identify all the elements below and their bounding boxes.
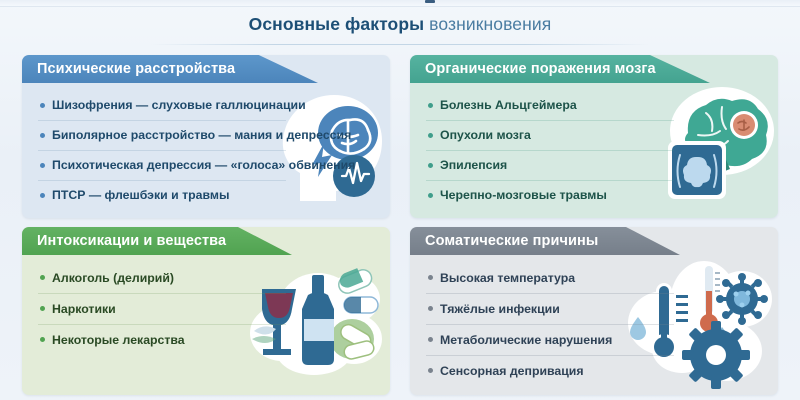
list-item-label: Некоторые лекарства	[52, 333, 185, 347]
list-item-label: Сенсорная депривация	[440, 364, 584, 378]
list-item-label: Черепно-мозговые травмы	[440, 188, 607, 202]
bullet-dot-icon	[428, 306, 433, 311]
bullet-dot-icon	[428, 275, 433, 280]
bullet-dot-icon	[40, 103, 45, 108]
list-item[interactable]: Сенсорная депривация	[410, 355, 778, 386]
list-item[interactable]: Шизофрения — слуховые галлюцинации	[22, 90, 390, 120]
card-header-label: Соматические причины	[425, 233, 598, 249]
list-item-label: Психотическая депрессия — «голоса» обвин…	[52, 158, 355, 172]
page-title-light: возникновения	[429, 14, 551, 34]
bullet-dot-icon	[40, 133, 45, 138]
card-organic-brain-lesions[interactable]: Органические поражения мозга	[410, 55, 778, 218]
card-somatic-causes[interactable]: Соматические причины	[410, 227, 778, 395]
card-mental-disorders[interactable]: Психические расстройства	[22, 55, 390, 218]
title-divider	[150, 44, 650, 45]
list-item-label: Тяжёлые инфекции	[440, 302, 560, 316]
bullet-dot-icon	[40, 275, 45, 280]
clipped-element-nub	[425, 0, 435, 3]
card-item-list-mental-disorders: Шизофрения — слуховые галлюцинации Бипол…	[22, 83, 390, 210]
list-item-label: Шизофрения — слуховые галлюцинации	[52, 98, 306, 112]
cards-grid: Психические расстройства	[22, 55, 778, 395]
list-item-label: Болезнь Альцгеймера	[440, 98, 577, 112]
list-item[interactable]: Болезнь Альцгеймера	[410, 90, 778, 120]
bullet-dot-icon	[40, 306, 45, 311]
list-item[interactable]: Черепно-мозговые травмы	[410, 180, 778, 210]
list-item[interactable]: Алкоголь (делирий)	[22, 262, 390, 293]
card-header-mental-disorders: Психические расстройства	[22, 55, 318, 83]
bullet-dot-icon	[428, 133, 433, 138]
bullet-dot-icon	[428, 193, 433, 198]
card-header-label: Психические расстройства	[37, 61, 235, 77]
top-clipped-strip	[0, 0, 800, 7]
list-item-label: Эпилепсия	[440, 158, 507, 172]
card-header-label: Органические поражения мозга	[425, 61, 656, 77]
card-header-organic-brain-lesions: Органические поражения мозга	[410, 55, 710, 83]
card-item-list-organic-brain-lesions: Болезнь Альцгеймера Опухоли мозга Эпилеп…	[410, 83, 778, 210]
list-item[interactable]: Эпилепсия	[410, 150, 778, 180]
list-item[interactable]: Метаболические нарушения	[410, 324, 778, 355]
bullet-dot-icon	[428, 337, 433, 342]
list-item[interactable]: ПТСР — флешбэки и травмы	[22, 180, 390, 210]
list-item[interactable]: Высокая температура	[410, 262, 778, 293]
page-title-strong: Основные факторы	[249, 14, 425, 34]
infographic-page: Основные факторы возникновения Психическ…	[0, 0, 800, 400]
list-item[interactable]: Опухоли мозга	[410, 120, 778, 150]
bullet-dot-icon	[428, 103, 433, 108]
list-item-label: Биполярное расстройство — мания и депрес…	[52, 128, 351, 142]
bullet-dot-icon	[428, 163, 433, 168]
bullet-dot-icon	[40, 193, 45, 198]
list-item[interactable]: Тяжёлые инфекции	[410, 293, 778, 324]
list-item-label: Алкоголь (делирий)	[52, 271, 174, 285]
card-item-list-somatic-causes: Высокая температура Тяжёлые инфекции Мет…	[410, 255, 778, 386]
bullet-dot-icon	[40, 163, 45, 168]
list-item-label: Опухоли мозга	[440, 128, 531, 142]
list-item[interactable]: Психотическая депрессия — «голоса» обвин…	[22, 150, 390, 180]
card-intoxications-and-substances[interactable]: Интоксикации и вещества	[22, 227, 390, 395]
list-item[interactable]: Некоторые лекарства	[22, 324, 390, 355]
list-item-label: Наркотики	[52, 302, 116, 316]
card-header-intoxications-and-substances: Интоксикации и вещества	[22, 227, 292, 255]
bullet-dot-icon	[428, 368, 433, 373]
card-header-label: Интоксикации и вещества	[37, 233, 226, 249]
list-item[interactable]: Наркотики	[22, 293, 390, 324]
list-item-label: ПТСР — флешбэки и травмы	[52, 188, 229, 202]
list-item[interactable]: Биполярное расстройство — мания и депрес…	[22, 120, 390, 150]
list-item-label: Высокая температура	[440, 271, 575, 285]
list-item-label: Метаболические нарушения	[440, 333, 612, 347]
page-title: Основные факторы возникновения	[0, 14, 800, 35]
card-item-list-intoxications-and-substances: Алкоголь (делирий) Наркотики Некоторые л…	[22, 255, 390, 355]
card-header-somatic-causes: Соматические причины	[410, 227, 680, 255]
bullet-dot-icon	[40, 337, 45, 342]
